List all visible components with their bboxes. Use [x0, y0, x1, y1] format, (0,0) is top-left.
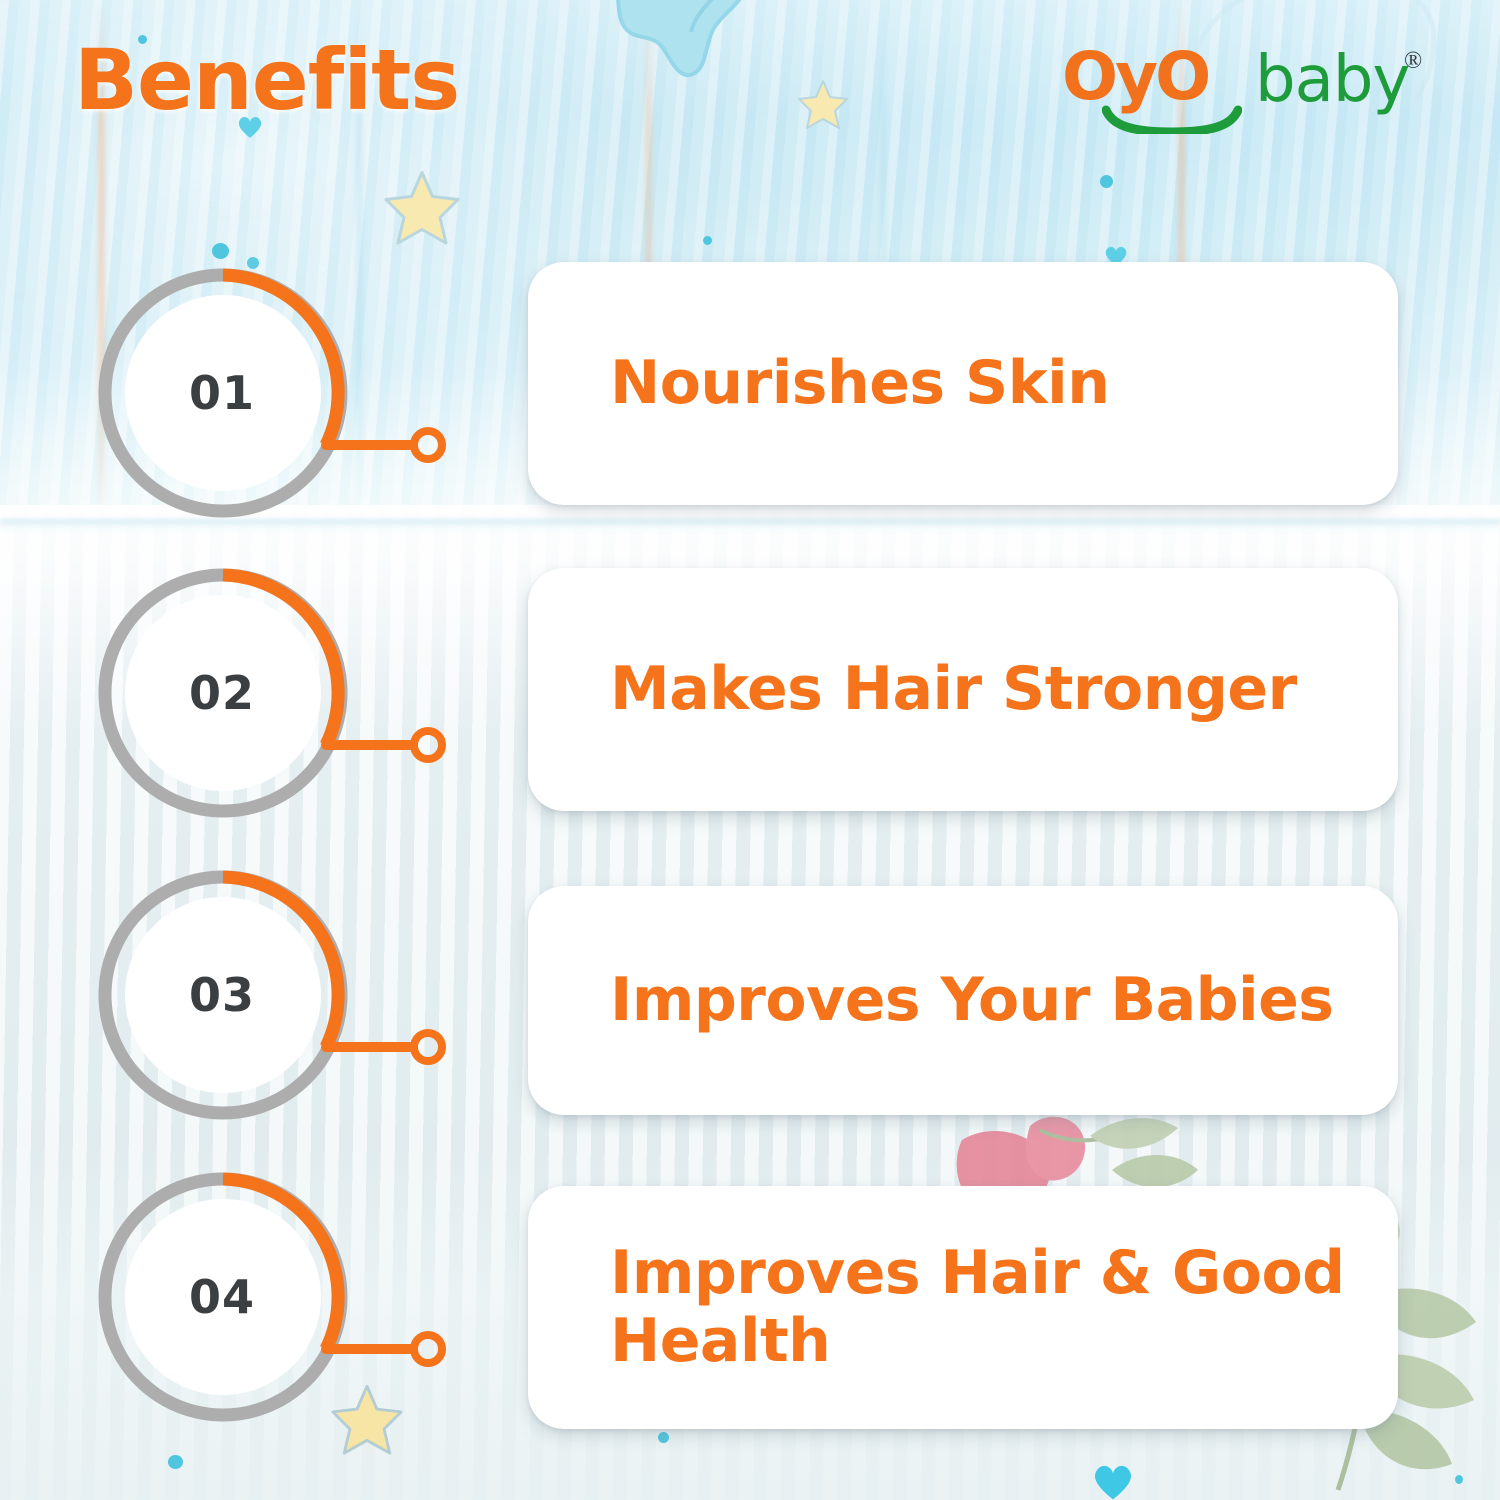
dot-icon	[1100, 175, 1113, 188]
benefit-number: 02	[102, 558, 342, 828]
benefit-card-02[interactable]: Makes Hair Stronger	[528, 568, 1398, 811]
brand-name-green: baby	[1255, 48, 1409, 112]
benefit-label: Makes Hair Stronger	[528, 656, 1297, 723]
dot-icon	[212, 243, 229, 259]
benefit-marker-04[interactable]: 04	[88, 1162, 458, 1432]
brand-name-orange: OyO	[1062, 44, 1208, 110]
benefit-marker-02[interactable]: 02	[88, 558, 458, 828]
dot-icon	[168, 1455, 183, 1469]
benefit-card-03[interactable]: Improves Your Babies	[528, 886, 1398, 1115]
infographic-canvas: Benefits OyO baby ® 01 Nourishes Skin	[0, 0, 1500, 1500]
benefit-card-01[interactable]: Nourishes Skin	[528, 262, 1398, 505]
benefit-marker-03[interactable]: 03	[88, 860, 458, 1130]
benefit-label: Nourishes Skin	[528, 350, 1109, 417]
benefit-number: 01	[102, 258, 342, 528]
dot-icon	[658, 1432, 669, 1443]
dot-icon	[703, 236, 712, 245]
benefit-marker-01[interactable]: 01	[88, 258, 458, 528]
star-icon	[797, 78, 849, 130]
brand-logo: OyO baby ®	[1062, 42, 1442, 134]
benefit-number: 04	[102, 1162, 342, 1432]
benefit-label: Improves Your Babies	[528, 967, 1334, 1034]
registered-trademark-icon: ®	[1404, 48, 1422, 75]
baby-onesie-icon	[575, 0, 775, 97]
page-title: Benefits	[74, 38, 459, 122]
benefit-number: 03	[102, 860, 342, 1130]
smile-swoosh-icon	[1102, 104, 1242, 134]
benefit-card-04[interactable]: Improves Hair & Good Health	[528, 1186, 1398, 1429]
star-icon	[383, 168, 461, 246]
benefit-label: Improves Hair & Good Health	[528, 1240, 1345, 1374]
